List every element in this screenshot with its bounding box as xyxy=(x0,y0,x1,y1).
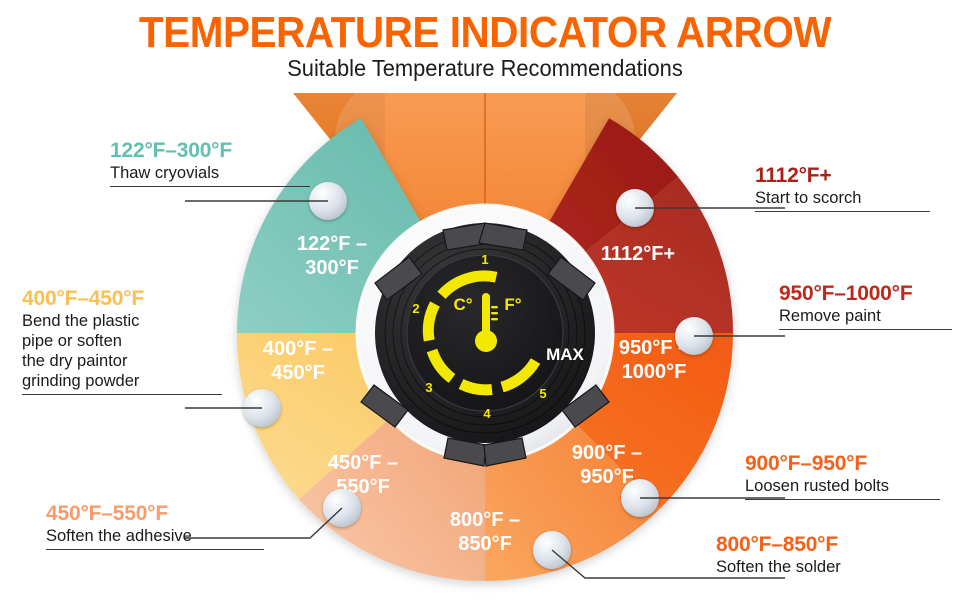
callout-desc-400-450-l3: the dry paintor xyxy=(22,351,202,371)
dial-max-label: MAX xyxy=(546,345,584,364)
callout-1112-plus: 1112°F+ Start to scorch xyxy=(755,165,930,212)
segment-label-122-300-l1: 122°F – xyxy=(297,233,367,255)
segment-label-950-1000-l2: 1000°F xyxy=(622,361,687,383)
dial-tick-2: 2 xyxy=(412,301,419,316)
callout-rule-1112-plus xyxy=(755,211,930,212)
segment-label-900-950-l2: 950°F xyxy=(580,466,634,488)
callout-desc-400-450-l2: pipe or soften xyxy=(22,331,202,351)
callout-title-1112-plus: 1112°F+ xyxy=(755,165,930,188)
dial-tick-4: 4 xyxy=(483,406,491,421)
infographic-root: TEMPERATURE INDICATOR ARROW Suitable Tem… xyxy=(0,0,970,600)
callout-desc-450-550: Soften the adhesive xyxy=(46,526,264,546)
segment-label-400-450-l2: 450°F xyxy=(271,362,325,384)
callout-rule-450-550 xyxy=(46,549,264,550)
dial-tick-3: 3 xyxy=(425,380,432,395)
dial-celsius-label: C° xyxy=(453,295,472,314)
segment-label-122-300-l2: 300°F xyxy=(305,257,359,279)
callout-title-950-1000: 950°F–1000°F xyxy=(779,283,952,306)
callout-122-300: 122°F–300°F Thaw cryovials xyxy=(110,140,310,187)
callout-desc-400-450-l1: Bend the plastic xyxy=(22,311,202,331)
segment-label-800-850-l2: 850°F xyxy=(458,533,512,555)
dial-tick-1: 1 xyxy=(481,252,488,267)
callout-rule-400-450 xyxy=(22,394,222,395)
callout-title-450-550: 450°F–550°F xyxy=(46,503,264,526)
callout-400-450: 400°F–450°F Bend the plastic pipe or sof… xyxy=(22,288,222,395)
callout-desc-900-950: Loosen rusted bolts xyxy=(745,476,940,496)
dial-tick-5: 5 xyxy=(539,386,546,401)
segment-label-1112-plus: 1112°F+ xyxy=(601,243,675,265)
callout-title-400-450: 400°F–450°F xyxy=(22,288,222,311)
callout-rule-950-1000 xyxy=(779,329,952,330)
callout-desc-950-1000: Remove paint xyxy=(779,306,952,326)
callout-desc-800-850: Soften the solder xyxy=(716,557,906,577)
callout-900-950: 900°F–950°F Loosen rusted bolts xyxy=(745,453,940,500)
segment-label-450-550-l1: 450°F – xyxy=(328,452,398,474)
callout-title-122-300: 122°F–300°F xyxy=(110,140,310,163)
dial-fahrenheit-label: F° xyxy=(504,295,521,314)
callout-450-550: 450°F–550°F Soften the adhesive xyxy=(46,503,264,550)
callout-desc-122-300: Thaw cryovials xyxy=(110,163,310,183)
callout-rule-900-950 xyxy=(745,499,940,500)
callout-desc-400-450-l4: grinding powder xyxy=(22,371,202,391)
callout-title-900-950: 900°F–950°F xyxy=(745,453,940,476)
page-title: TEMPERATURE INDICATOR ARROW xyxy=(39,8,931,58)
callout-800-850: 800°F–850°F Soften the solder xyxy=(716,534,906,577)
callout-title-800-850: 800°F–850°F xyxy=(716,534,906,557)
callout-rule-122-300 xyxy=(110,186,310,187)
callout-desc-1112-plus: Start to scorch xyxy=(755,188,930,208)
segment-label-800-850-l1: 800°F – xyxy=(450,509,520,531)
segment-label-400-450-l1: 400°F – xyxy=(263,338,333,360)
callout-950-1000: 950°F–1000°F Remove paint xyxy=(779,283,952,330)
segment-label-900-950-l1: 900°F – xyxy=(572,442,642,464)
